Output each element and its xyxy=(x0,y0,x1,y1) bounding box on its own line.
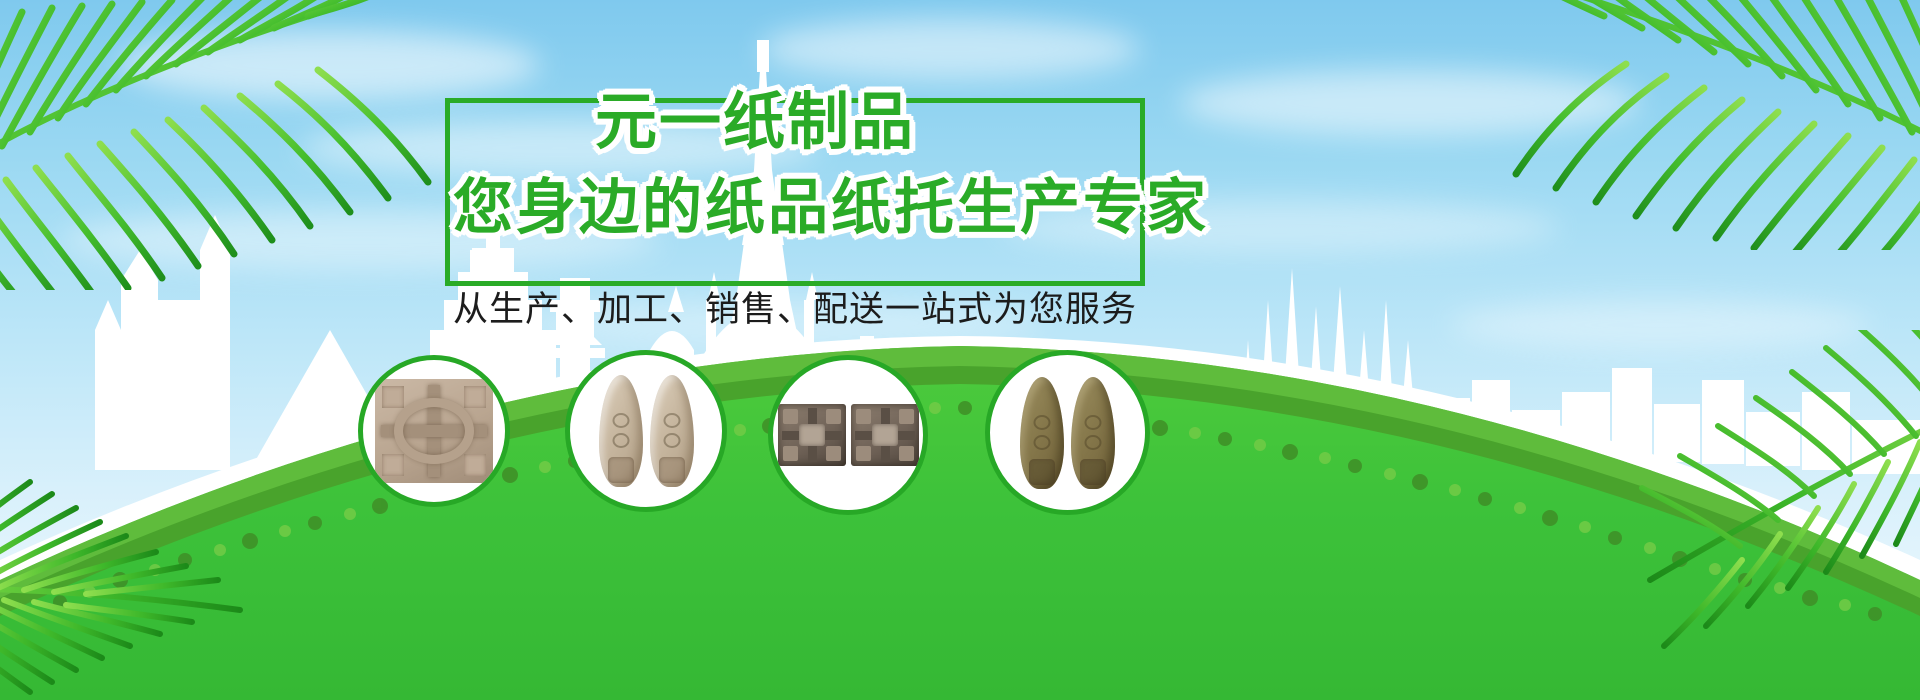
square-pulp-tray-image xyxy=(375,379,493,483)
product-circle-dark-shoe-pulp-tray[interactable] xyxy=(985,350,1150,515)
dark-corner-pulp-tray-image xyxy=(778,404,919,466)
title-main-row: 元一纸制品 xyxy=(595,80,1195,166)
palm-leaf-icon xyxy=(0,400,330,700)
page-title: 元一纸制品 xyxy=(595,87,915,159)
palm-leaf-icon xyxy=(0,0,450,290)
product-circle-square-pulp-tray[interactable] xyxy=(358,355,510,507)
product-circle-dark-corner-pulp-tray[interactable] xyxy=(768,355,928,515)
light-shoe-pulp-tray-image xyxy=(599,375,694,487)
dark-shoe-pulp-tray-image xyxy=(1020,377,1115,489)
headline-block: 元一纸制品 您身边的纸品纸托生产专家 xyxy=(445,98,1145,288)
page-subtitle: 您身边的纸品纸托生产专家 xyxy=(453,170,1137,246)
palm-leaf-icon xyxy=(1440,0,1920,250)
promo-banner: 元一纸制品 您身边的纸品纸托生产专家 从生产、加工、销售、配送一站式为您服务 xyxy=(0,0,1920,700)
product-circle-light-shoe-pulp-tray[interactable] xyxy=(565,350,727,512)
palm-leaf-icon xyxy=(1570,330,1920,660)
tagline: 从生产、加工、销售、配送一站式为您服务 xyxy=(445,288,1145,332)
